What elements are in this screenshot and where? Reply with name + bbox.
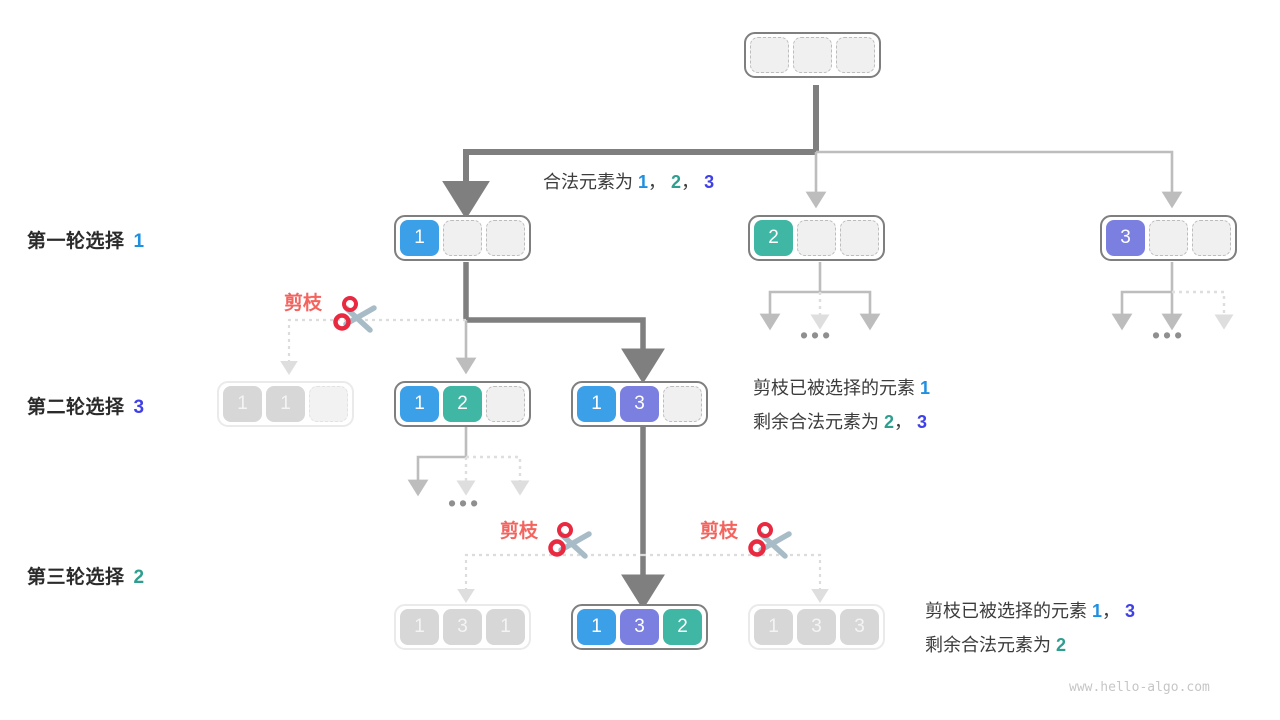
annotation-value: 3 <box>704 172 714 192</box>
cell: 1 <box>400 609 439 645</box>
cell: 1 <box>266 386 305 422</box>
cell <box>663 386 702 422</box>
cell: 1 <box>577 609 616 645</box>
row-label-text: 第一轮选择 <box>27 231 125 252</box>
separator: ， <box>894 412 912 432</box>
ellipsis: ••• <box>1152 322 1185 349</box>
annotation-value: 2 <box>884 412 894 432</box>
ellipsis: ••• <box>800 322 833 349</box>
cell: 2 <box>443 386 482 422</box>
scissors-icon <box>330 292 382 340</box>
cell: 1 <box>486 609 525 645</box>
prune-label: 剪枝 <box>284 288 322 315</box>
node-round2-pruned: 1 1 <box>217 381 354 427</box>
separator: ， <box>1102 601 1120 621</box>
cell <box>486 386 525 422</box>
annotation-row3-line1: 剪枝已被选择的元素 1， 3 <box>925 597 1135 623</box>
prune-label: 剪枝 <box>500 516 538 543</box>
cell <box>443 220 482 256</box>
cell: 1 <box>400 386 439 422</box>
node-round3-choice-132: 1 3 2 <box>571 604 708 650</box>
row-label-text: 第二轮选择 <box>27 397 125 418</box>
cell: 3 <box>840 609 879 645</box>
row-label-round-2: 第二轮选择3 <box>27 392 145 419</box>
annotation-value: 1 <box>638 172 648 192</box>
cell <box>1149 220 1188 256</box>
annotation-text: 剪枝已被选择的元素 <box>925 601 1087 621</box>
row-label-round-3: 第三轮选择2 <box>27 562 145 589</box>
annotation-value: 2 <box>671 172 681 192</box>
annotation-text: 合法元素为 <box>543 172 633 192</box>
cell: 1 <box>577 386 616 422</box>
annotation-text: 剪枝已被选择的元素 <box>753 378 915 398</box>
prune-label: 剪枝 <box>700 516 738 543</box>
separator: ， <box>681 172 699 192</box>
cell <box>793 37 832 73</box>
annotation-value: 3 <box>917 412 927 432</box>
cell <box>840 220 879 256</box>
annotation-value: 1 <box>920 378 930 398</box>
cell <box>836 37 875 73</box>
diagram-canvas: 第一轮选择1 合法元素为 1， 2， 3 1 2 3 ••• ••• 剪枝 第二… <box>0 0 1280 720</box>
node-round1-choice-3: 3 <box>1100 215 1237 261</box>
row-label-value: 1 <box>134 231 145 252</box>
annotation-row3-line2: 剩余合法元素为 2 <box>925 631 1066 657</box>
node-root <box>744 32 881 78</box>
annotation-row2-line2: 剩余合法元素为 2， 3 <box>753 408 927 434</box>
cell: 3 <box>1106 220 1145 256</box>
node-round1-choice-2: 2 <box>748 215 885 261</box>
cell <box>1192 220 1231 256</box>
row-label-value: 2 <box>134 567 145 588</box>
cell <box>309 386 348 422</box>
annotation-text: 剩余合法元素为 <box>925 635 1051 655</box>
row-label-value: 3 <box>134 397 145 418</box>
row-label-round-1: 第一轮选择1 <box>27 226 145 253</box>
cell <box>797 220 836 256</box>
cell: 3 <box>620 609 659 645</box>
node-round1-choice-1: 1 <box>394 215 531 261</box>
node-round2-choice-12: 1 2 <box>394 381 531 427</box>
watermark: www.hello-algo.com <box>1069 680 1210 695</box>
scissors-icon <box>545 518 597 566</box>
cell: 1 <box>400 220 439 256</box>
annotation-value: 2 <box>1056 635 1066 655</box>
annotation-text: 剩余合法元素为 <box>753 412 879 432</box>
annotation-row2-line1: 剪枝已被选择的元素 1 <box>753 374 930 400</box>
cell: 2 <box>754 220 793 256</box>
cell: 3 <box>620 386 659 422</box>
cell: 1 <box>754 609 793 645</box>
scissors-icon <box>745 518 797 566</box>
annotation-value: 3 <box>1125 601 1135 621</box>
annotation-legal-elements: 合法元素为 1， 2， 3 <box>543 168 714 194</box>
cell: 3 <box>797 609 836 645</box>
cell <box>486 220 525 256</box>
separator: ， <box>648 172 666 192</box>
cell: 2 <box>663 609 702 645</box>
annotation-value: 1 <box>1092 601 1102 621</box>
cell <box>750 37 789 73</box>
ellipsis: ••• <box>448 490 481 517</box>
row-label-text: 第三轮选择 <box>27 567 125 588</box>
cell: 3 <box>443 609 482 645</box>
node-round3-pruned-left: 1 3 1 <box>394 604 531 650</box>
cell: 1 <box>223 386 262 422</box>
node-round3-pruned-right: 1 3 3 <box>748 604 885 650</box>
node-round2-choice-13: 1 3 <box>571 381 708 427</box>
